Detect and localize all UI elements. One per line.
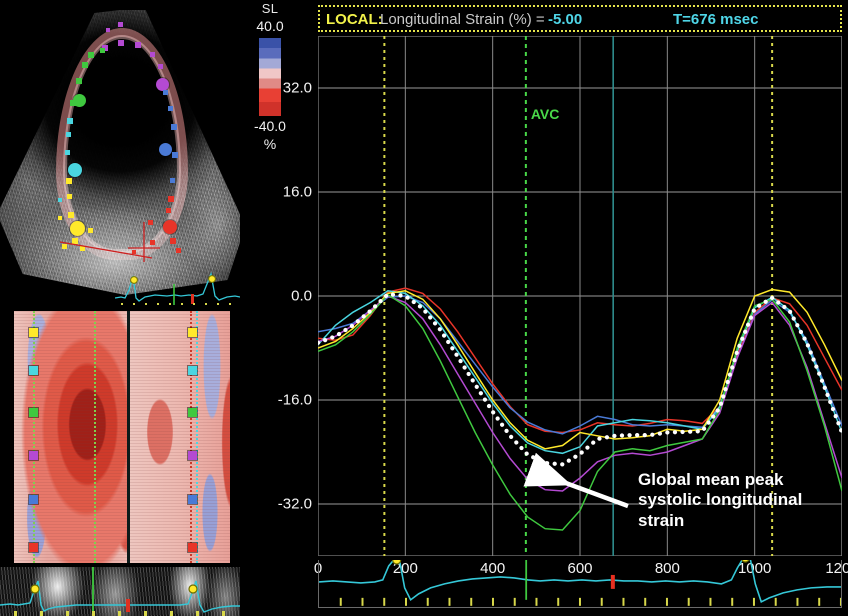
segment-marker-basal-lateral[interactable]	[148, 220, 153, 225]
time-ruler-tick	[340, 598, 342, 606]
segment-marker-basal-lateral[interactable]	[168, 196, 174, 202]
map-segment-marker-basal-septal[interactable]	[29, 328, 38, 337]
avc-tick-marker	[611, 575, 615, 589]
map-segment-marker-mid-septal[interactable]	[188, 366, 197, 375]
segment-marker-apical-septal[interactable]	[82, 62, 88, 68]
strain-curve-apical-lateral[interactable]	[318, 296, 842, 491]
time-ruler-tick	[405, 598, 407, 606]
time-ruler-tick	[775, 598, 777, 606]
color-scale-min-value: -40.0	[240, 118, 300, 134]
ecg-event-marker[interactable]	[189, 585, 197, 593]
m-mode-ecg-overlay	[0, 567, 240, 616]
segment-marker-apical-lateral[interactable]	[106, 28, 110, 32]
annotation-line-3: strain	[638, 511, 848, 531]
time-ruler-tick	[362, 598, 364, 606]
strain-plot-area[interactable]: 32.016.00.0-16.0-32.00200400600800100012…	[318, 36, 842, 556]
time-ruler-tick	[622, 598, 624, 606]
chart-ecg-panel[interactable]	[318, 560, 842, 608]
map-segment-marker-mid-lateral[interactable]	[29, 495, 38, 504]
map-scanline-texture	[130, 311, 230, 563]
time-ruler-tick	[492, 598, 494, 606]
time-ruler-tick	[688, 598, 690, 606]
segment-marker-mid-lateral[interactable]	[172, 152, 178, 158]
readout-parameter-label: Longitudinal Strain (%) =	[380, 11, 545, 28]
segment-marker-apical-septal[interactable]	[76, 78, 82, 84]
segment-marker-basal-septal[interactable]	[67, 194, 72, 199]
color-scale-gradient-bar	[259, 38, 281, 116]
strain-analysis-window: SL 40.0 -40.0 %	[0, 0, 848, 616]
ecg-event-marker[interactable]	[393, 560, 401, 564]
segment-marker-mid-septal[interactable]	[65, 150, 70, 155]
map-segment-marker-apical-lateral[interactable]	[188, 451, 197, 460]
time-ruler-tick	[448, 598, 450, 606]
segment-marker-basal-lateral[interactable]	[176, 248, 181, 253]
ecg-event-marker[interactable]	[131, 277, 138, 284]
segment-marker-basal-lateral[interactable]	[132, 250, 136, 254]
segment-marker-apical-septal[interactable]	[100, 48, 105, 53]
segment-marker-basal-lateral[interactable]	[150, 240, 155, 245]
chart-ecg-trace	[319, 560, 841, 608]
segment-marker-apical-lateral[interactable]	[150, 52, 155, 57]
segment-marker-mid-lateral[interactable]	[159, 143, 172, 156]
readout-strain-value: -5.00	[548, 11, 582, 28]
segment-marker-mid-septal[interactable]	[68, 163, 82, 177]
map-segment-marker-mid-septal[interactable]	[29, 366, 38, 375]
map-segment-marker-apical-septal[interactable]	[188, 408, 197, 417]
segment-marker-basal-septal[interactable]	[72, 238, 78, 244]
map-segment-marker-apical-lateral[interactable]	[29, 451, 38, 460]
y-axis-tick-label: -32.0	[278, 496, 312, 513]
time-ruler-tick	[709, 598, 711, 606]
color-scale-title: SL	[240, 1, 300, 16]
avc-tick-marker	[191, 294, 194, 304]
segment-marker-mid-septal[interactable]	[66, 132, 71, 137]
segment-marker-mid-lateral[interactable]	[163, 90, 168, 95]
time-ruler-tick	[796, 598, 798, 606]
segment-track-line[interactable]	[33, 311, 35, 563]
map-segment-marker-mid-lateral[interactable]	[188, 495, 197, 504]
segment-marker-apical-lateral[interactable]	[135, 42, 141, 48]
strain-curve-mid-lateral[interactable]	[318, 296, 842, 434]
time-ruler-ticks	[14, 611, 225, 616]
time-ruler-tick	[535, 598, 537, 606]
imaging-column: SL 40.0 -40.0 %	[0, 0, 300, 616]
time-ruler-tick	[644, 598, 646, 606]
segment-marker-basal-septal[interactable]	[70, 221, 85, 236]
time-ruler-tick	[840, 598, 841, 606]
segment-marker-basal-septal[interactable]	[58, 216, 62, 220]
segment-track-line[interactable]	[190, 311, 192, 563]
time-ruler-ticks	[121, 303, 231, 305]
map-segment-marker-basal-septal[interactable]	[188, 328, 197, 337]
annotation-line-2: systolic longitudinal	[638, 490, 848, 510]
echo-2d-view[interactable]	[0, 0, 240, 305]
segment-marker-mid-lateral[interactable]	[171, 124, 177, 130]
segment-marker-apical-lateral[interactable]	[118, 22, 123, 27]
time-ruler-tick	[753, 598, 755, 606]
y-axis-tick-label: 16.0	[283, 184, 312, 201]
segment-track-line[interactable]	[94, 311, 96, 563]
time-ruler-tick	[514, 598, 516, 606]
color-scale-unit: %	[240, 136, 300, 152]
segment-marker-basal-septal[interactable]	[88, 228, 93, 233]
strain-curve-panel: LOCAL: Longitudinal Strain (%) = -5.00 T…	[300, 0, 848, 616]
ecg-event-marker[interactable]	[209, 276, 216, 283]
parametric-strain-map[interactable]	[0, 309, 240, 565]
y-axis-tick-label: 0.0	[291, 288, 312, 305]
time-ruler-tick	[666, 598, 668, 606]
readout-time-value: T=676 msec	[673, 11, 758, 28]
avc-tick-marker	[126, 599, 130, 612]
y-axis-tick-label: 32.0	[283, 80, 312, 97]
segment-marker-apical-septal[interactable]	[70, 100, 76, 106]
segment-marker-mid-septal[interactable]	[58, 198, 62, 202]
readout-local-label: LOCAL:	[326, 11, 383, 28]
annotation-line-1: Global mean peak	[638, 470, 848, 490]
map-segment-marker-basal-lateral[interactable]	[188, 543, 197, 552]
readout-header: LOCAL: Longitudinal Strain (%) = -5.00 T…	[318, 5, 842, 32]
segment-marker-basal-septal[interactable]	[80, 246, 85, 251]
segment-marker-basal-septal[interactable]	[68, 212, 74, 218]
annotation-text: Global mean peak systolic longitudinal s…	[638, 470, 848, 531]
segment-track-line[interactable]	[196, 311, 198, 563]
echo-ecg-trace	[115, 268, 240, 305]
time-ruler-tick	[383, 598, 385, 606]
strain-curve-global-mean[interactable]	[318, 294, 842, 464]
strain-curve-basal-septal[interactable]	[318, 290, 842, 449]
time-ruler-tick	[557, 598, 559, 606]
strain-curve-mid-septal[interactable]	[318, 291, 842, 454]
segment-marker-apical-lateral[interactable]	[158, 64, 163, 69]
segment-marker-basal-septal[interactable]	[62, 244, 67, 249]
time-ruler-tick	[601, 598, 603, 606]
parametric-map-beat-1[interactable]	[14, 311, 127, 563]
segment-marker-basal-lateral[interactable]	[166, 208, 171, 213]
segment-marker-mid-lateral[interactable]	[170, 178, 175, 183]
segment-marker-basal-lateral[interactable]	[170, 238, 176, 244]
time-ruler-tick	[427, 598, 429, 606]
m-mode-strip[interactable]	[0, 567, 240, 616]
segment-marker-basal-septal[interactable]	[66, 178, 72, 184]
segment-marker-mid-septal[interactable]	[67, 118, 73, 124]
time-ruler-tick	[470, 598, 472, 606]
map-segment-marker-basal-lateral[interactable]	[29, 543, 38, 552]
time-ruler-tick	[579, 598, 581, 606]
time-ruler-tick	[731, 598, 733, 606]
segment-marker-basal-lateral[interactable]	[163, 220, 177, 234]
ecg-polyline	[319, 560, 841, 602]
color-scale-max-value: 40.0	[240, 18, 300, 34]
segment-marker-apical-septal[interactable]	[88, 52, 94, 58]
time-ruler-tick	[818, 598, 820, 606]
map-segment-marker-apical-septal[interactable]	[29, 408, 38, 417]
y-axis-tick-label: -16.0	[278, 392, 312, 409]
parametric-map-beat-2[interactable]	[130, 311, 230, 563]
ecg-event-marker[interactable]	[31, 585, 39, 593]
ecg-event-marker[interactable]	[741, 560, 749, 562]
segment-marker-mid-lateral[interactable]	[168, 106, 173, 111]
segment-marker-apical-lateral[interactable]	[118, 40, 124, 46]
map-scanline-texture	[14, 311, 127, 563]
